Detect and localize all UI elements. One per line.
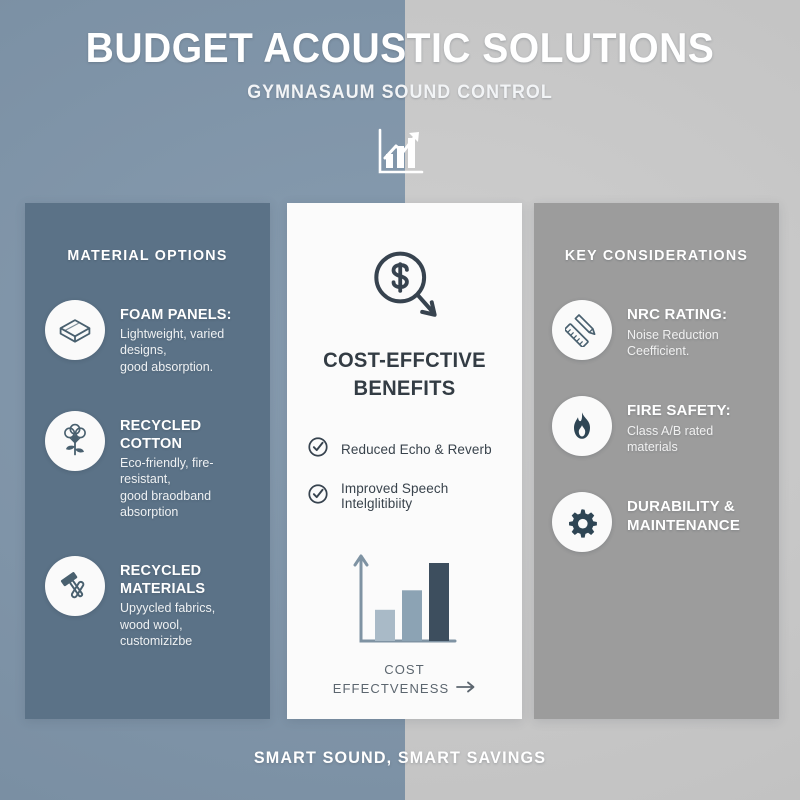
list-item-text: RECYCLED MATERIALS Upyycled fabrics, woo… (120, 556, 256, 649)
list-item-text: FOAM PANELS: Lightweight, varied designs… (120, 300, 256, 375)
list-item-title: FOAM PANELS: (120, 306, 256, 324)
footer-tagline: SMART SOUND, SMART SAVINGS (20, 748, 780, 768)
list-item[interactable]: Improved Speech Intelglitibiity (307, 481, 522, 511)
infographic-canvas: BUDGET ACOUSTIC SOLUTIONS GYMNASAUM SOUN… (0, 0, 800, 800)
cost-effectiveness-chart: COST EFFECTVENESS (287, 553, 522, 699)
list-item[interactable]: NRC RATING: Noise Reduction Ceefficient. (534, 300, 779, 360)
list-item-text: NRC RATING: Noise Reduction Ceefficient. (627, 300, 765, 359)
flame-icon (552, 396, 612, 456)
dollar-magnifier-arrow-icon (287, 245, 522, 331)
arrow-right-icon (456, 680, 476, 699)
list-item-title: NRC RATING: (627, 306, 765, 325)
center-panel-content: COST-EFFCTIVE BENEFITS Reduced Echo & Re… (287, 203, 522, 699)
foam-panel-stack-icon (45, 300, 105, 360)
check-circle-icon (307, 436, 329, 463)
right-panel-heading: KEY CONSIDERATIONS (540, 247, 773, 264)
list-item-title: RECYCLED MATERIALS (120, 562, 256, 598)
list-item-text: DURABILITY & MAINTENANCE (627, 492, 740, 538)
material-options-panel: MATERIAL OPTIONS FOAM PANELS: Lightweigh… (25, 203, 270, 719)
list-item-body: Upyycled fabrics, wood wool, customizizb… (120, 600, 256, 649)
cost-benefits-panel: COST-EFFCTIVE BENEFITS Reduced Echo & Re… (287, 203, 522, 719)
list-item[interactable]: RECYCLED MATERIALS Upyycled fabrics, woo… (25, 556, 270, 649)
benefits-list: Reduced Echo & Reverb Improved Speech In… (287, 436, 522, 511)
cotton-flower-icon (45, 411, 105, 471)
chart-caption: COST EFFECTVENESS (333, 661, 477, 699)
bar-chart-growth-icon (0, 124, 800, 180)
page-title: BUDGET ACOUSTIC SOLUTIONS (28, 26, 772, 70)
ruler-pencil-icon (552, 300, 612, 360)
list-item-text: RECYCLED COTTON Eco-friendly, fire-resis… (120, 411, 256, 520)
list-item-title: DURABILITY & MAINTENANCE (627, 498, 740, 536)
key-considerations-list: NRC RATING: Noise Reduction Ceefficient.… (534, 300, 779, 552)
page-subtitle: GYMNASAUM SOUND CONTROL (24, 82, 776, 104)
list-item-title: FIRE SAFETY: (627, 402, 765, 421)
key-considerations-panel: KEY CONSIDERATIONS NRC RATING: N (534, 203, 779, 719)
list-item[interactable]: FIRE SAFETY: Class A/B rated materials (534, 396, 779, 456)
center-panel-title: COST-EFFCTIVE BENEFITS (292, 347, 518, 402)
check-circle-icon (307, 483, 329, 510)
list-item-title: RECYCLED COTTON (120, 417, 256, 453)
material-options-list: FOAM PANELS: Lightweight, varied designs… (25, 300, 270, 649)
list-item[interactable]: Reduced Echo & Reverb (307, 436, 522, 463)
chart-caption-line1: COST (333, 661, 477, 680)
header: BUDGET ACOUSTIC SOLUTIONS GYMNASAUM SOUN… (0, 0, 800, 180)
hammer-tools-icon (45, 556, 105, 616)
list-item-text: FIRE SAFETY: Class A/B rated materials (627, 396, 765, 455)
benefit-label: Reduced Echo & Reverb (341, 442, 492, 457)
list-item[interactable]: RECYCLED COTTON Eco-friendly, fire-resis… (25, 411, 270, 520)
gear-icon (552, 492, 612, 552)
list-item-body: Class A/B rated materials (627, 423, 765, 456)
left-panel-heading: MATERIAL OPTIONS (31, 247, 264, 264)
list-item-body: Lightweight, varied designs, good absorp… (120, 326, 256, 375)
benefit-label: Improved Speech Intelglitibiity (341, 481, 522, 511)
list-item[interactable]: FOAM PANELS: Lightweight, varied designs… (25, 300, 270, 375)
chart-caption-line2: EFFECTVENESS (333, 680, 450, 699)
list-item-body: Eco-friendly, fire-resistant, good braod… (120, 455, 256, 520)
list-item-body: Noise Reduction Ceefficient. (627, 327, 765, 360)
list-item[interactable]: DURABILITY & MAINTENANCE (534, 492, 779, 552)
bar-chart-graphic (345, 553, 465, 653)
